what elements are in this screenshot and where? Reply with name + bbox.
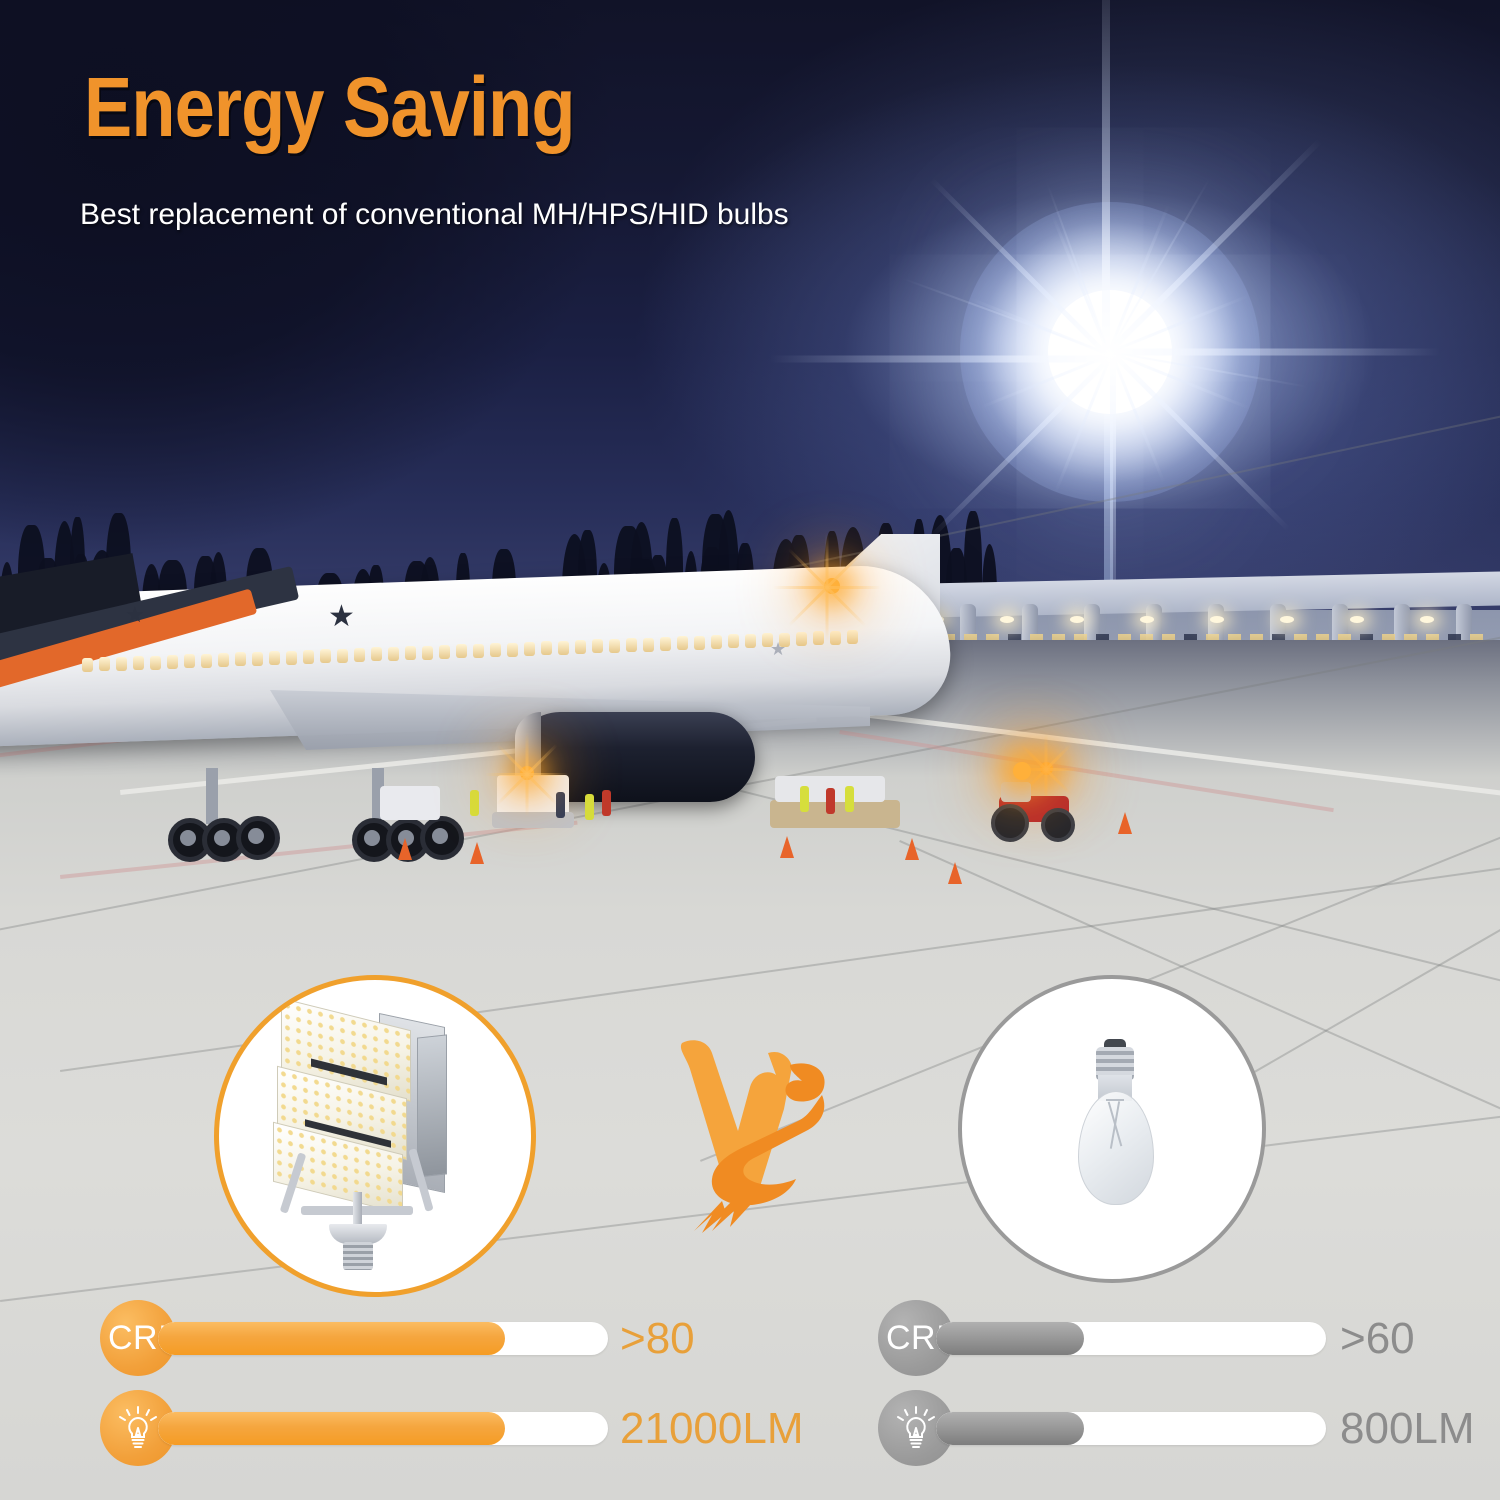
traffic-cone [905, 838, 919, 860]
plane-cabin-window [201, 654, 212, 668]
plane-cabin-window [82, 658, 93, 672]
ground-crew-person [585, 794, 594, 820]
tractor-wheel-front [1041, 808, 1075, 842]
incandescent-bulb-image [1072, 1039, 1158, 1219]
beacon-ray [1045, 734, 1048, 770]
plane-cabin-window [796, 632, 807, 646]
beacon-ray [827, 586, 881, 589]
traffic-cone [1118, 812, 1132, 834]
led-retrofit-kit-image [267, 1002, 482, 1272]
versus-graphic [672, 1035, 832, 1235]
light-ray [770, 356, 1110, 363]
plane-cabin-window [354, 648, 365, 662]
plane-cabin-window [371, 647, 382, 661]
product-infographic: ★ ★ ★ Energy Saving Best replacement of … [0, 0, 1500, 1500]
plane-cabin-window [609, 639, 620, 653]
cri-bar-track-right [936, 1322, 1326, 1355]
tractor-beacon [1013, 762, 1031, 780]
plane-cabin-window [728, 634, 739, 648]
plane-cabin-window [830, 631, 841, 645]
ground-crew-person [602, 790, 611, 816]
plane-cabin-window [235, 652, 246, 666]
plane-cabin-window [184, 654, 195, 668]
plane-star-marking: ★ [125, 604, 145, 626]
plane-star-marking: ★ [328, 602, 355, 632]
plane-cabin-window [405, 646, 416, 660]
led-e39-screw-base [343, 1242, 373, 1270]
ground-crew-person [845, 786, 854, 812]
beacon-ray [826, 588, 829, 642]
terminal-soffit-light [1140, 616, 1154, 623]
plane-cabin-window [439, 645, 450, 659]
cri-bar-track-left [158, 1322, 608, 1355]
bulb-filament-support [1106, 1099, 1124, 1101]
terminal-soffit-light [1070, 616, 1084, 623]
plane-cabin-window [422, 646, 433, 660]
beacon-ray [485, 773, 527, 776]
plane-cabin-window [711, 635, 722, 649]
beacon-ray [773, 586, 827, 589]
plane-cabin-window [694, 636, 705, 650]
plane-cabin-window [303, 650, 314, 664]
incandescent-bulb-circle [958, 975, 1266, 1283]
page-subtitle: Best replacement of conventional MH/HPS/… [80, 198, 789, 232]
lightbulb-icon [896, 1406, 936, 1452]
plane-cabin-window [558, 641, 569, 655]
terminal-soffit-light [1210, 616, 1224, 623]
plane-cabin-window [541, 641, 552, 655]
tractor-wheel-rear [991, 804, 1029, 842]
light-ray [1102, 0, 1110, 356]
lumen-bar-track-right [936, 1412, 1326, 1445]
plane-cabin-window [150, 656, 161, 670]
plane-cabin-window [575, 640, 586, 654]
lumen-bar-track-left [158, 1412, 608, 1445]
traffic-cone [470, 842, 484, 864]
lumen-bar-fill-left [158, 1412, 505, 1445]
plane-cabin-window [133, 656, 144, 670]
led-lamp-shade [329, 1224, 387, 1244]
metric-row-right-lumen: 800LM [878, 1390, 1328, 1466]
apron-tractor [985, 780, 1081, 842]
page-title: Energy Saving [84, 68, 575, 148]
plane-cabin-window [677, 636, 688, 650]
terminal-soffit-light [1000, 616, 1014, 623]
plane-cabin-window [813, 631, 824, 645]
cri-bar-fill-right [936, 1322, 1084, 1355]
traffic-cone [780, 836, 794, 858]
plane-cabin-window [456, 644, 467, 658]
plane-cabin-window [626, 638, 637, 652]
plane-cabin-window [116, 657, 127, 671]
ground-crew-person [470, 790, 479, 816]
plane-cabin-window [745, 634, 756, 648]
led-housing-side [417, 1034, 447, 1177]
plane-cabin-window [99, 657, 110, 671]
plane-cabin-window [337, 649, 348, 663]
metric-row-right-cri: CRI >60 [878, 1300, 1328, 1376]
light-ray [1110, 349, 1440, 356]
cri-bar-fill-left [158, 1322, 505, 1355]
plane-cabin-window [286, 651, 297, 665]
beacon-ray [826, 534, 829, 588]
lumen-value-right: 800LM [1340, 1404, 1475, 1454]
beacon-ray [526, 775, 529, 817]
landing-gear-wheel [420, 816, 464, 860]
cri-value-right: >60 [1340, 1314, 1415, 1364]
plane-cabin-window [252, 652, 263, 666]
gear-strut [206, 768, 218, 824]
plane-cabin-window [643, 638, 654, 652]
plane-star-marking: ★ [770, 640, 786, 658]
landing-gear-wheel [236, 816, 280, 860]
metric-row-left-lumen: 21000LM [100, 1390, 620, 1466]
plane-cabin-window [320, 649, 331, 663]
plane-cabin-window [218, 653, 229, 667]
traffic-cone [398, 838, 412, 860]
terminal-soffit-light [1280, 616, 1294, 623]
lightbulb-icon [118, 1406, 158, 1452]
plane-cabin-window [473, 644, 484, 658]
led-product-circle [214, 975, 536, 1297]
plane-cabin-window [388, 647, 399, 661]
cri-value-left: >80 [620, 1314, 695, 1364]
ground-crew-person [556, 792, 565, 818]
plane-cabin-window [269, 651, 280, 665]
terminal-soffit-light [1350, 616, 1364, 623]
plane-cabin-window [524, 642, 535, 656]
plane-cabin-window [592, 639, 603, 653]
beacon-ray [527, 773, 569, 776]
ground-crew-person [826, 788, 835, 814]
metric-row-left-cri: CRI >80 [100, 1300, 620, 1376]
traffic-cone [948, 862, 962, 884]
tug-vehicle [380, 786, 440, 820]
plane-cabin-window [490, 643, 501, 657]
beacon-ray [1046, 768, 1082, 771]
baggage-cart [770, 800, 900, 828]
ground-crew-person [800, 786, 809, 812]
plane-cabin-window [167, 655, 178, 669]
plane-cabin-window [847, 630, 858, 644]
plane-cabin-window [507, 643, 518, 657]
terminal-soffit-light [1420, 616, 1434, 623]
plane-cabin-window [660, 637, 671, 651]
lumen-bar-fill-right [936, 1412, 1084, 1445]
beacon-ray [526, 733, 529, 775]
lumen-value-left: 21000LM [620, 1404, 803, 1454]
